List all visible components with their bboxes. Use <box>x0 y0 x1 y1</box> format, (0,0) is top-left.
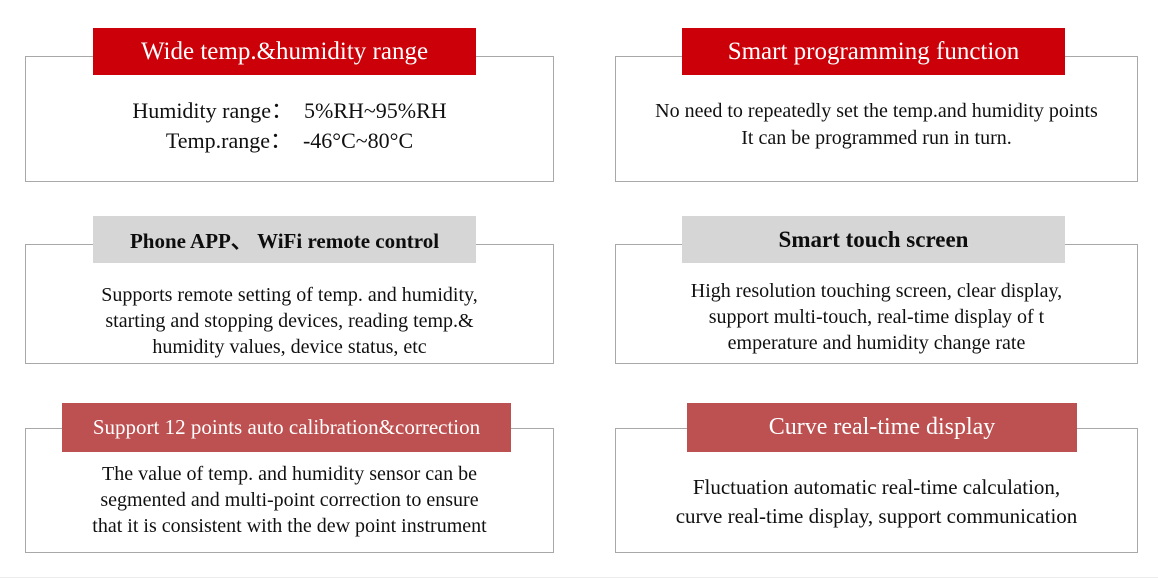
card-header-smart-programming: Smart programming function <box>682 28 1065 75</box>
card-body-curve-display: Fluctuation automatic real-time calculat… <box>616 473 1137 531</box>
card-header-remote-control: Phone APP、 WiFi remote control <box>93 216 476 263</box>
card-body-line: support multi-touch, real-time display o… <box>616 304 1137 330</box>
card-body-line: It can be programmed run in turn. <box>616 125 1137 152</box>
feature-card-grid: Wide temp.&humidity range Humidity range… <box>0 0 1158 580</box>
card-body-line: Temp.range： -46°C~80°C <box>26 126 553 156</box>
card-body-line: Supports remote setting of temp. and hum… <box>26 282 553 308</box>
card-header-calibration: Support 12 points auto calibration&corre… <box>62 403 511 452</box>
card-header-touch-screen: Smart touch screen <box>682 216 1065 263</box>
card-body-line: emperature and humidity change rate <box>616 330 1137 356</box>
card-body-line: segmented and multi-point correction to … <box>26 487 553 513</box>
card-body-line: Fluctuation automatic real-time calculat… <box>616 473 1137 502</box>
card-body-line: The value of temp. and humidity sensor c… <box>26 461 553 487</box>
card-header-temp-range: Wide temp.&humidity range <box>93 28 476 75</box>
card-body-line: curve real-time display, support communi… <box>616 502 1137 531</box>
card-body-line: No need to repeatedly set the temp.and h… <box>616 98 1137 125</box>
card-body-touch-screen: High resolution touching screen, clear d… <box>616 278 1137 356</box>
card-body-calibration: The value of temp. and humidity sensor c… <box>26 461 553 539</box>
bottom-divider <box>0 577 1158 578</box>
card-body-smart-programming: No need to repeatedly set the temp.and h… <box>616 98 1137 152</box>
card-header-curve-display: Curve real-time display <box>687 403 1077 452</box>
card-body-line: Humidity range： 5%RH~95%RH <box>26 96 553 126</box>
card-body-line: High resolution touching screen, clear d… <box>616 278 1137 304</box>
card-body-remote-control: Supports remote setting of temp. and hum… <box>26 282 553 360</box>
card-body-temp-range: Humidity range： 5%RH~95%RH Temp.range： -… <box>26 96 553 156</box>
card-body-line: starting and stopping devices, reading t… <box>26 308 553 334</box>
card-body-line: that it is consistent with the dew point… <box>26 513 553 539</box>
card-body-line: humidity values, device status, etc <box>26 334 553 360</box>
